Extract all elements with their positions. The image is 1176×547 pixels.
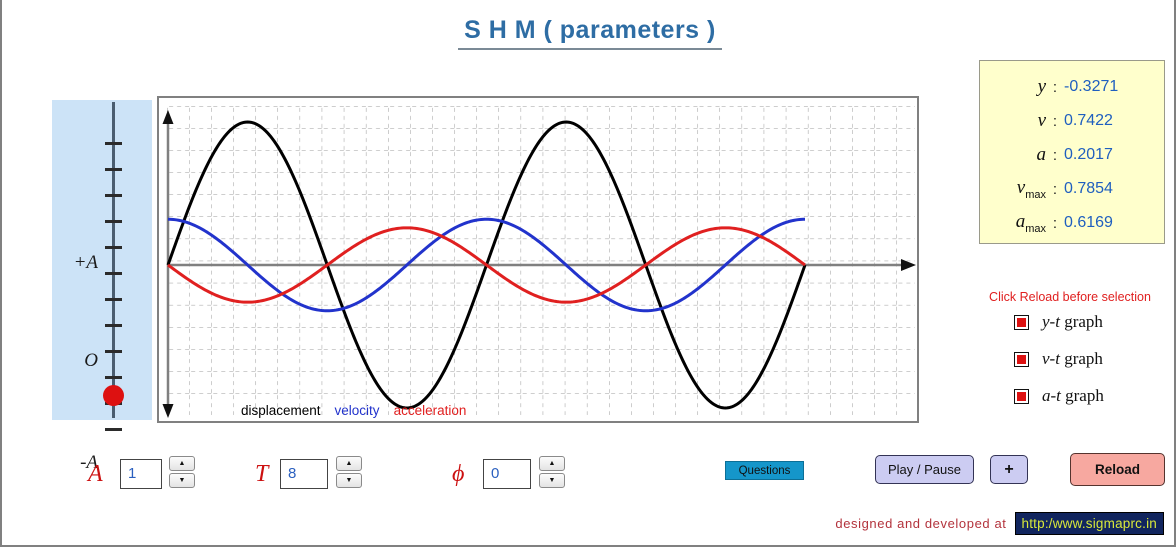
graph-legend: displacementvelocityacceleration [241,403,480,418]
stepper-down-icon[interactable]: ▼ [539,473,565,488]
parameter-row: amax:0.6169 [980,206,1166,240]
legend-velocity: velocity [335,403,380,418]
parameter-row: a:0.2017 [980,138,1166,172]
graph-select-row-vt[interactable]: v-t graph [1014,348,1103,370]
plus-button[interactable]: + [990,455,1028,484]
graph-plot-area: displacementvelocityacceleration [157,96,919,423]
scale-tick [105,246,122,249]
parameter-colon: : [1046,215,1064,232]
parameter-value: 0.2017 [1064,146,1113,164]
stepper-down-icon[interactable]: ▼ [169,473,195,488]
checkbox-icon[interactable] [1014,389,1029,404]
graph-svg [159,98,917,421]
scale-label-zero: O [56,350,98,372]
scale-axis-line [112,102,115,418]
scale-tick [105,194,122,197]
parameter-value: 0.7422 [1064,112,1113,130]
scale-tick [105,324,122,327]
period-input[interactable]: 8 [280,459,328,489]
period-stepper[interactable]: ▲▼ [336,456,362,488]
page-title: S H M ( parameters ) [2,16,1176,50]
parameters-readout-panel: y:-0.3271v:0.7422a:0.2017vmax:0.7854amax… [979,60,1165,244]
graph-select-label: v-t graph [1042,349,1103,369]
amplitude-scale-panel: +A O -A [52,100,152,420]
page-title-text: S H M ( parameters ) [458,16,722,50]
graph-select-label: a-t graph [1042,386,1104,406]
parameter-colon: : [1046,113,1064,130]
checkbox-fill [1017,392,1026,401]
parameter-value: -0.3271 [1064,78,1118,96]
parameter-value: 0.6169 [1064,214,1113,232]
questions-button[interactable]: Questions [725,461,804,480]
graph-select-row-at[interactable]: a-t graph [1014,385,1104,407]
checkbox-icon[interactable] [1014,315,1029,330]
oscillator-ball [103,385,124,406]
parameter-symbol: vmax [980,177,1046,201]
legend-acceleration: acceleration [394,403,467,418]
parameter-row: vmax:0.7854 [980,172,1166,206]
stepper-down-icon[interactable]: ▼ [336,473,362,488]
graph-grid [167,106,915,415]
parameter-symbol: a [980,144,1046,166]
scale-tick [105,272,122,275]
parameter-value: 0.7854 [1064,180,1113,198]
checkbox-fill [1017,318,1026,327]
reload-button[interactable]: Reload [1070,453,1165,486]
shm-simulation-app: S H M ( parameters ) +A O -A [0,0,1176,547]
phase-stepper[interactable]: ▲▼ [539,456,565,488]
graph-select-row-yt[interactable]: y-t graph [1014,311,1103,333]
stepper-up-icon[interactable]: ▲ [539,456,565,471]
play-pause-button[interactable]: Play / Pause [875,455,974,484]
graph-select-label: y-t graph [1042,312,1103,332]
reload-notice: Click Reload before selection [970,290,1170,304]
scale-tick [105,376,122,379]
amplitude-stepper[interactable]: ▲▼ [169,456,195,488]
control-label-amplitude: A [88,461,103,488]
footer: designed and developed at http:/www.sigm… [835,512,1164,535]
parameter-colon: : [1046,181,1064,198]
checkbox-icon[interactable] [1014,352,1029,367]
checkbox-fill [1017,355,1026,364]
scale-tick [105,142,122,145]
scale-tick [105,350,122,353]
scale-tick [105,168,122,171]
amplitude-input[interactable]: 1 [120,459,162,489]
control-label-phase: ϕ [452,461,464,488]
scale-tick [105,298,122,301]
parameter-colon: : [1046,147,1064,164]
scale-label-plus-a: +A [56,252,98,274]
legend-displacement: displacement [241,403,321,418]
stepper-up-icon[interactable]: ▲ [336,456,362,471]
parameter-colon: : [1046,79,1064,96]
footer-url-link[interactable]: http:/www.sigmaprc.in [1015,512,1165,535]
scale-tick [105,220,122,223]
parameter-row: y:-0.3271 [980,70,1166,104]
parameter-symbol: v [980,110,1046,132]
control-label-period: T [255,461,268,488]
phase-input[interactable]: 0 [483,459,531,489]
footer-credit-text: designed and developed at [835,516,1006,531]
scale-tick [105,428,122,431]
parameter-symbol: y [980,76,1046,98]
parameter-row: v:0.7422 [980,104,1166,138]
stepper-up-icon[interactable]: ▲ [169,456,195,471]
parameter-symbol: amax [980,211,1046,235]
